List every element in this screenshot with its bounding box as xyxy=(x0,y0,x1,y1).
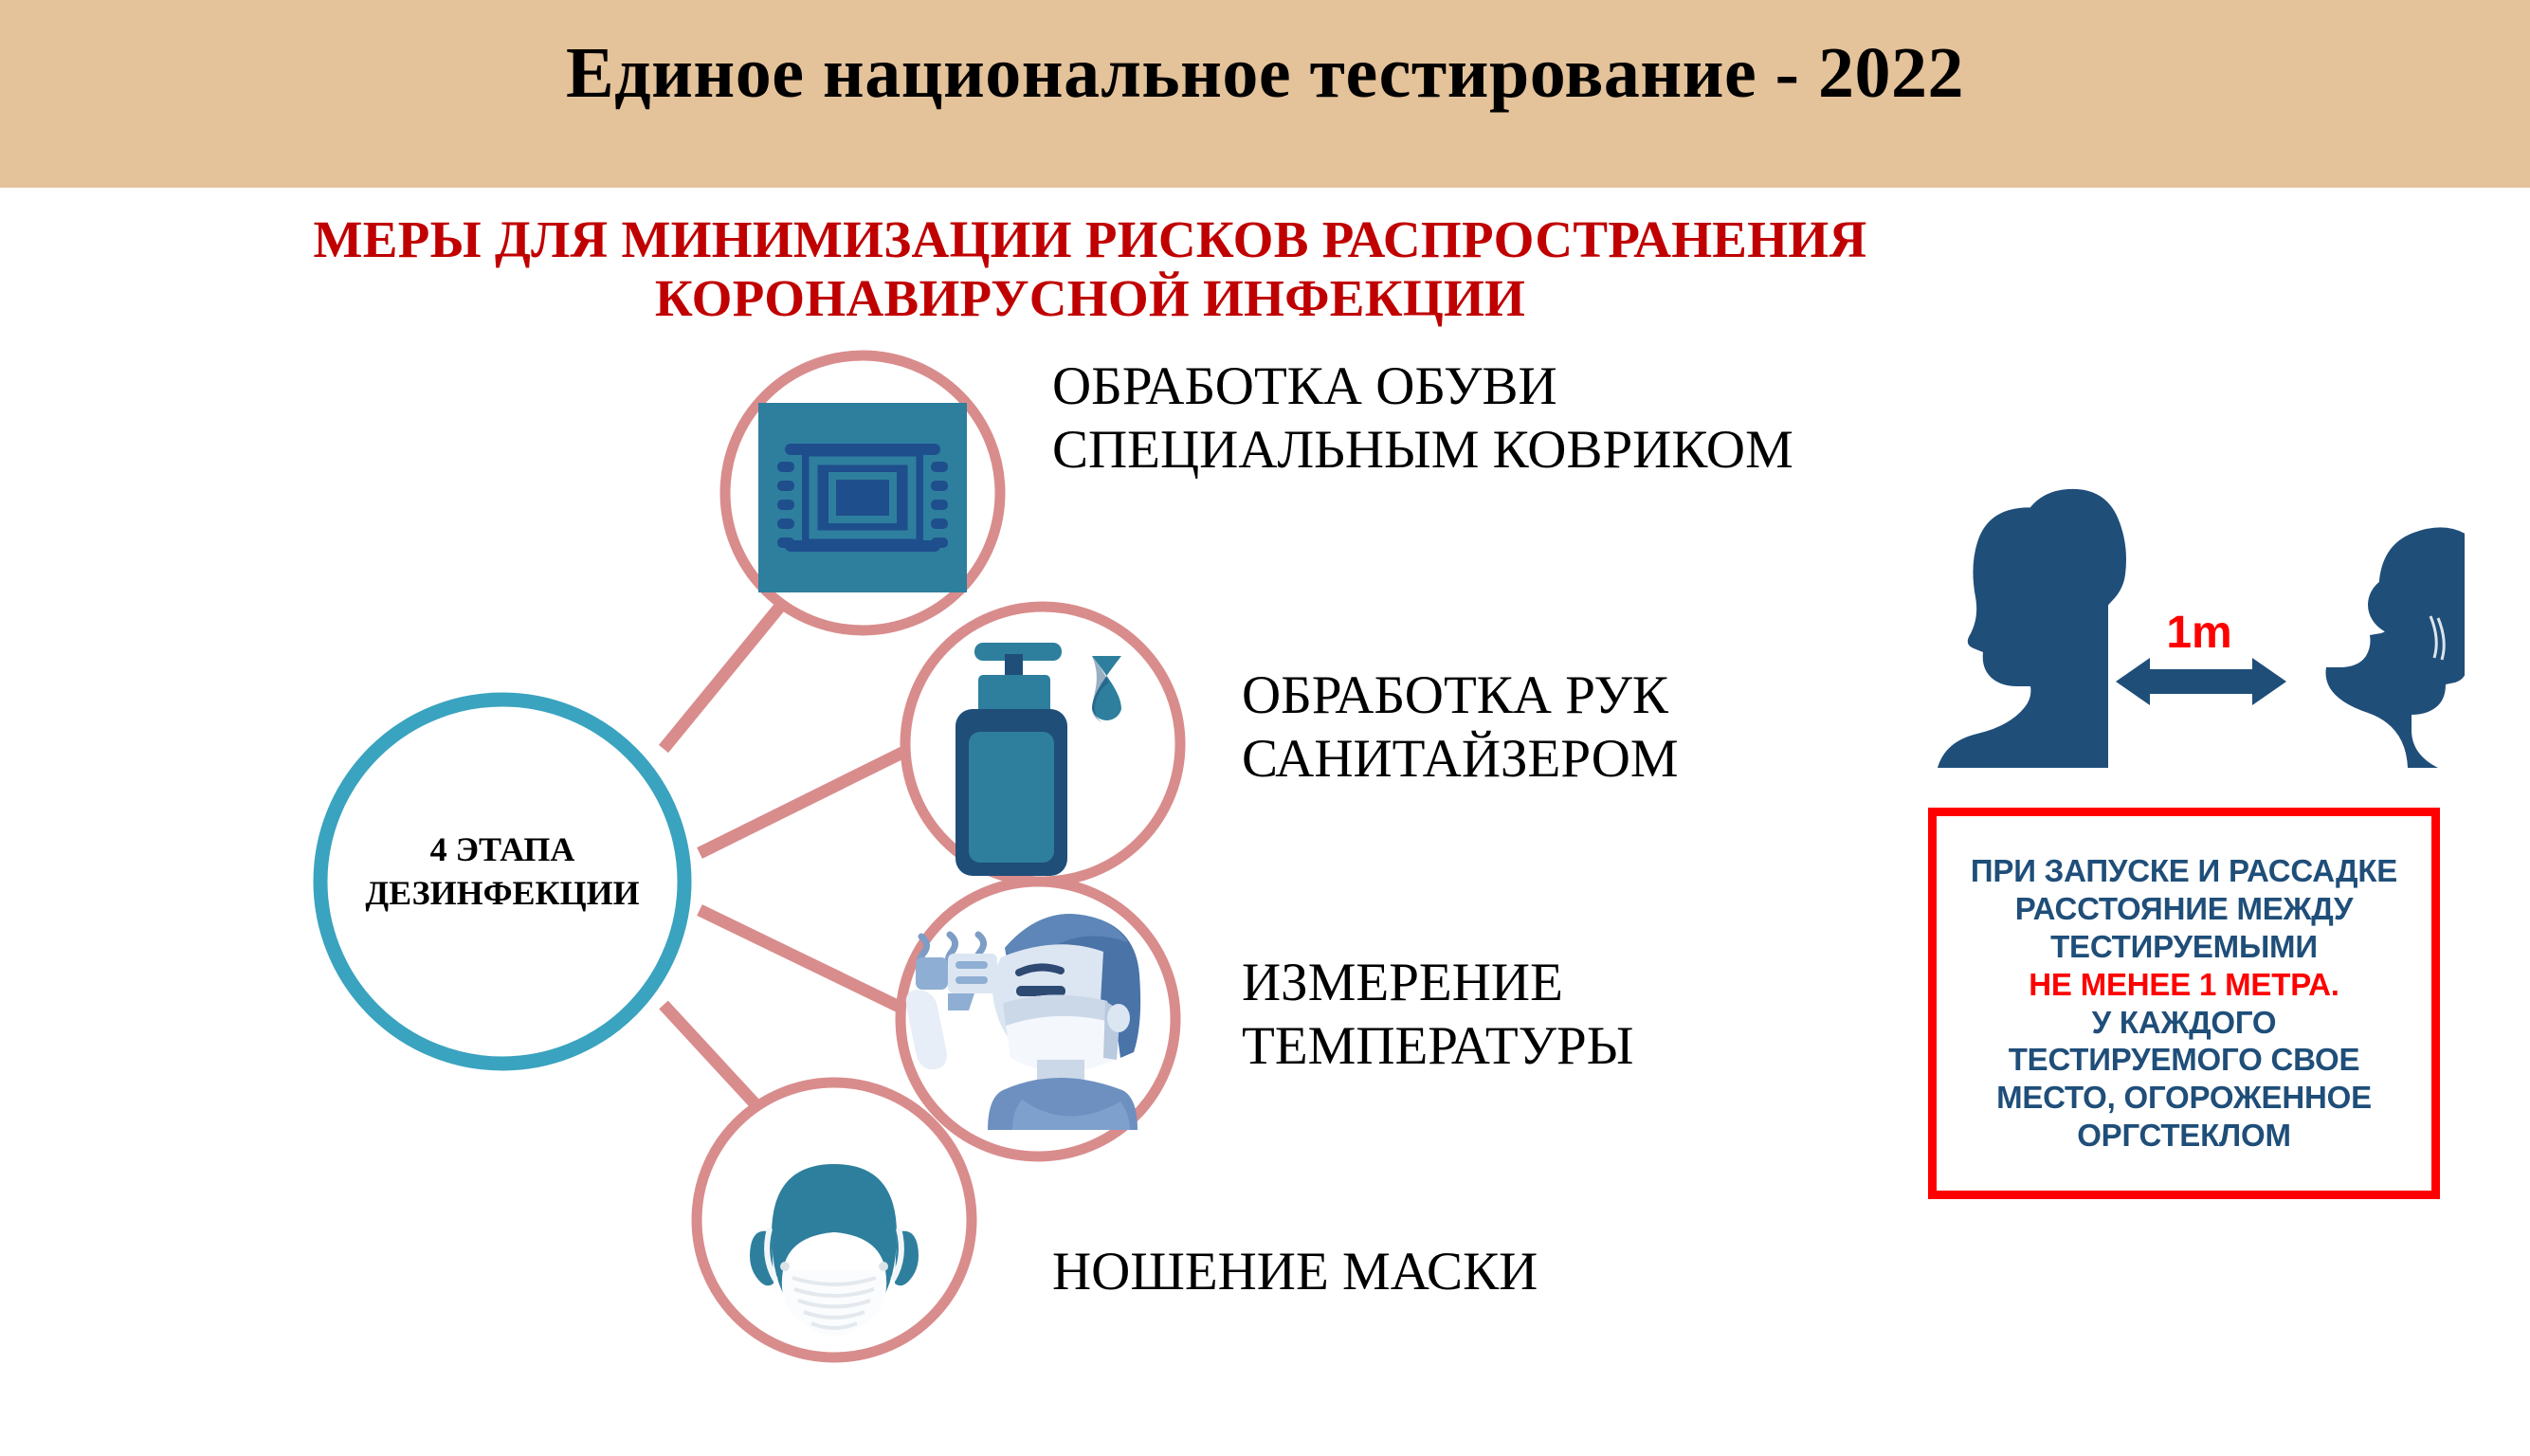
step-label-sanitizer-line-2: САНИТАЙЗЕРОМ xyxy=(1242,727,1679,791)
center-label-line-2: ДЕЗИНФЕКЦИИ xyxy=(313,871,692,915)
warning-line-3: ТЕСТИРУЕМЫМИ xyxy=(1971,928,2397,966)
disinfection-mat-icon xyxy=(758,403,967,592)
step-label-mat-line-1: ОБРАБОТКА ОБУВИ xyxy=(1052,355,1793,418)
connector-to-thermometer xyxy=(700,910,915,1014)
step-node-sanitizer[interactable] xyxy=(905,607,1180,882)
step-node-mat[interactable] xyxy=(725,355,1000,630)
step-label-mask-line-1: НОШЕНИЕ МАСКИ xyxy=(1052,1240,1538,1303)
step-label-mat-line-2: СПЕЦИАЛЬНЫМ КОВРИКОМ xyxy=(1052,418,1793,482)
step-label-sanitizer: ОБРАБОТКА РУК САНИТАЙЗЕРОМ xyxy=(1242,664,1679,792)
connector-to-sanitizer xyxy=(700,749,910,853)
center-label-line-1: 4 ЭТАПА xyxy=(313,828,692,871)
warning-line-7: МЕСТО, ОГОРОЖЕННОЕ xyxy=(1971,1079,2397,1117)
warning-box: ПРИ ЗАПУСКЕ И РАССАДКЕ РАССТОЯНИЕ МЕЖДУ … xyxy=(1928,808,2440,1199)
warning-line-6: ТЕСТИРУЕМОГО СВОЕ xyxy=(1971,1041,2397,1079)
step-label-thermometer: ИЗМЕРЕНИЕ ТЕМПЕРАТУРЫ xyxy=(1242,951,1633,1079)
slide-canvas: Единое национальное тестирование - 2022 … xyxy=(0,0,2530,1456)
warning-line-1: ПРИ ЗАПУСКЕ И РАССАДКЕ xyxy=(1971,852,2397,890)
warning-line-5: У КАЖДОГО xyxy=(1971,1004,2397,1042)
step-node-thermometer[interactable] xyxy=(901,882,1175,1156)
step-node-mask[interactable] xyxy=(697,1083,972,1357)
step-label-sanitizer-line-1: ОБРАБОТКА РУК xyxy=(1242,664,1679,727)
warning-line-2: РАССТОЯНИЕ МЕЖДУ xyxy=(1971,890,2397,928)
step-label-thermometer-line-1: ИЗМЕРЕНИЕ xyxy=(1242,951,1633,1014)
center-circle-label: 4 ЭТАПА ДЕЗИНФЕКЦИИ xyxy=(313,828,692,915)
warning-line-8: ОРГСТЕКЛОМ xyxy=(1971,1117,2397,1155)
double-arrow-icon xyxy=(2116,658,2286,705)
warning-text: ПРИ ЗАПУСКЕ И РАССАДКЕ РАССТОЯНИЕ МЕЖДУ … xyxy=(1971,852,2397,1155)
female-hair-bun xyxy=(2368,573,2444,637)
social-distance-illustration xyxy=(1934,483,2465,768)
step-label-mat: ОБРАБОТКА ОБУВИ СПЕЦИАЛЬНЫМ КОВРИКОМ xyxy=(1052,355,1793,482)
step-label-thermometer-line-2: ТЕМПЕРАТУРЫ xyxy=(1242,1014,1633,1078)
step-label-mask: НОШЕНИЕ МАСКИ xyxy=(1052,1240,1538,1303)
warning-line-4-accent: НЕ МЕНЕЕ 1 МЕТРА. xyxy=(1971,966,2397,1004)
